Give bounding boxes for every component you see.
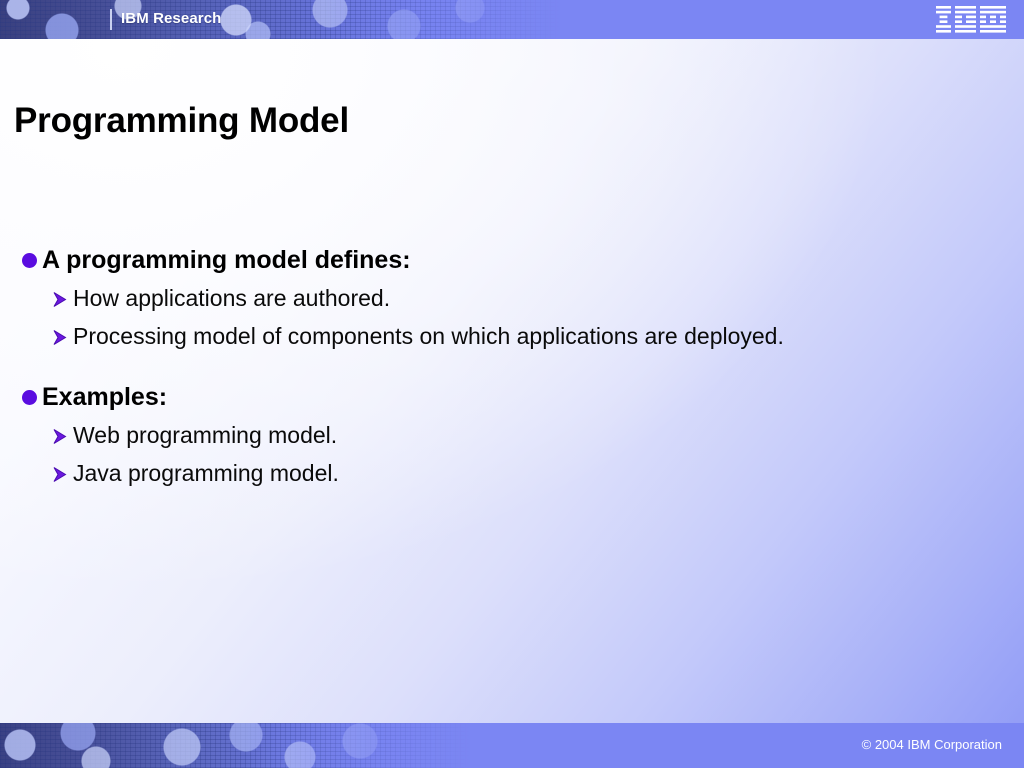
bullet-level2-label: Web programming model. [73,420,337,451]
brand-label: IBM Research [121,10,221,27]
bullet-level1-label: A programming model defines: [42,243,411,277]
bullet-dot-icon [22,253,37,268]
arrow-bullet-icon [52,291,69,308]
slide-footer: © 2004 IBM Corporation [0,723,1024,768]
bullet-level2-label: Java programming model. [73,458,339,489]
slide-body: A programming model defines: How applica… [22,243,952,495]
bullet-level2-label: How applications are authored. [73,283,390,314]
bullet-level1-label: Examples: [42,380,167,414]
slide: IBM Research [0,0,1024,768]
footer-texture-pattern [0,723,470,768]
section-spacer [22,358,952,380]
bullet-level2-label: Processing model of components on which … [73,321,784,352]
slide-header: IBM Research [0,0,1024,39]
ibm-logo-icon [936,6,1008,33]
bullet-level2: Processing model of components on which … [52,321,952,352]
bullet-level2: Web programming model. [52,420,952,451]
arrow-bullet-icon [52,466,69,483]
bullet-level1: Examples: [22,380,952,414]
copyright-label: © 2004 IBM Corporation [862,737,1002,752]
bullet-dot-icon [22,390,37,405]
bullet-level2: Java programming model. [52,458,952,489]
page-title: Programming Model [14,101,349,141]
header-texture-pattern [0,0,560,39]
bullet-level1: A programming model defines: [22,243,952,277]
header-divider [110,9,112,30]
bullet-level2: How applications are authored. [52,283,952,314]
arrow-bullet-icon [52,428,69,445]
arrow-bullet-icon [52,329,69,346]
